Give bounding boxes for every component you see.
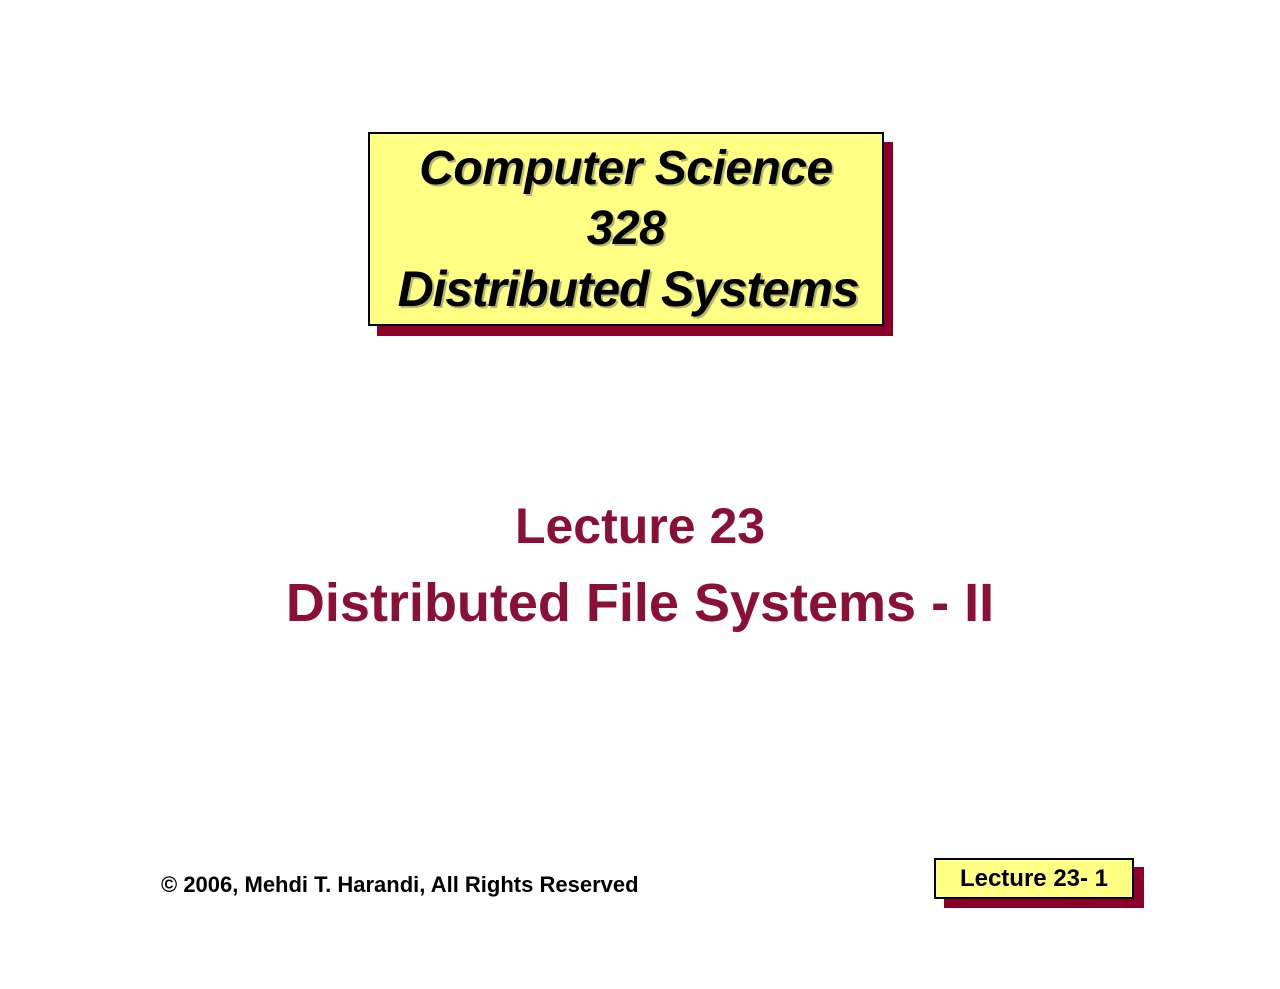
copyright-text: © 2006, Mehdi T. Harandi, All Rights Res… <box>161 872 639 898</box>
course-title-line-1: Computer Science <box>419 139 832 199</box>
course-title-box: Computer Science 328 Distributed Systems <box>368 132 884 326</box>
course-title-panel: Computer Science 328 Distributed Systems <box>368 132 884 326</box>
lecture-heading: Lecture 23 Distributed File Systems - II <box>0 488 1280 642</box>
lecture-number-text: Lecture 23 <box>0 488 1280 564</box>
page-number-label: Lecture 23- 1 <box>960 865 1108 893</box>
course-number-line: 328 <box>587 199 666 259</box>
course-title-line-3: Distributed Systems <box>398 259 859 319</box>
page-number-badge-panel: Lecture 23- 1 <box>934 858 1134 899</box>
page-number-badge: Lecture 23- 1 <box>934 858 1134 899</box>
lecture-topic-text: Distributed File Systems - II <box>0 564 1280 642</box>
presentation-slide: Computer Science 328 Distributed Systems… <box>0 0 1280 989</box>
